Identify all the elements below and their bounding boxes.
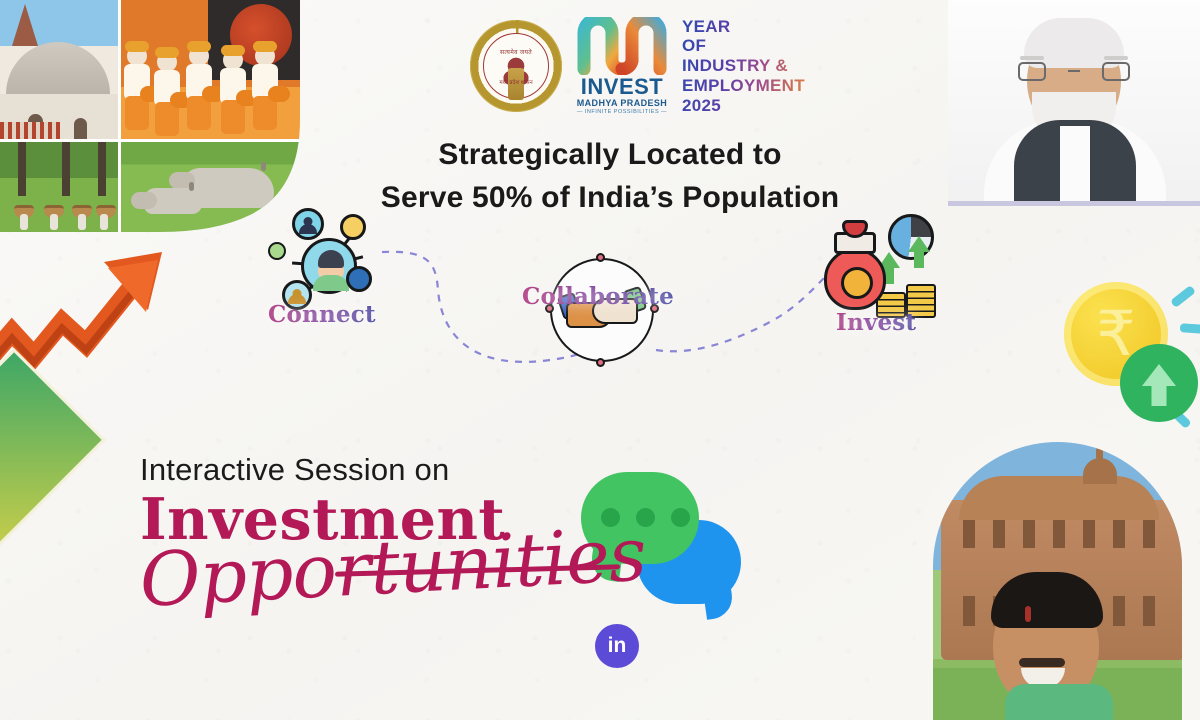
invest-tagline: — INFINITE POSSIBILITIES — (574, 109, 670, 115)
logo-row: सत्यमेव जयते मध्य प्रदेश शासन (470, 12, 810, 120)
session-title-line1: Interactive Session on (140, 452, 660, 488)
invest-state-name: MADHYA PRADESH (574, 98, 670, 109)
bihu-dancers-photo (120, 0, 300, 140)
flow-label-connect: Connect (254, 298, 390, 331)
collage-divider-vertical (118, 0, 121, 232)
prime-minister-portrait (948, 0, 1200, 206)
madhya-pradesh-government-emblem: सत्यमेव जयते मध्य प्रदेश शासन (470, 20, 562, 112)
collage-divider-horizontal (0, 139, 300, 142)
kamakhya-temple-photo (0, 0, 118, 140)
flow-label-invest: Invest (822, 306, 930, 339)
linkedin-icon[interactable]: in (595, 624, 639, 668)
session-title-block: Interactive Session on Investment Opport… (140, 452, 660, 618)
infinity-mark-icon (576, 17, 668, 75)
rang-ghar-monument-with-leader-portrait (915, 420, 1200, 720)
leader-portrait-face (985, 570, 1113, 720)
rupee-coin-group: ₹ (1056, 278, 1198, 428)
invest-madhya-pradesh-logo: INVEST MADHYA PRADESH — INFINITE POSSIBI… (574, 17, 670, 115)
up-arrow-circle-icon (1120, 344, 1198, 422)
flow-label-collaborate: Collaborate (508, 280, 688, 313)
year-of-industry-badge: YEAR OF INDUSTRY & EMPLOYMENT 2025 (682, 17, 805, 116)
assam-tourism-collage (0, 0, 300, 232)
tea-garden-pickers-photo (0, 142, 118, 232)
emblem-text-bottom: मध्य प्रदेश शासन (484, 78, 548, 86)
invest-wordmark: INVEST (574, 76, 670, 98)
orange-growth-arrow-3d (0, 248, 176, 378)
connect-collaborate-invest-flow: Connect Collaborate (250, 200, 950, 400)
poster-canvas: सत्यमेव जयते मध्य प्रदेश शासन (0, 0, 1200, 720)
